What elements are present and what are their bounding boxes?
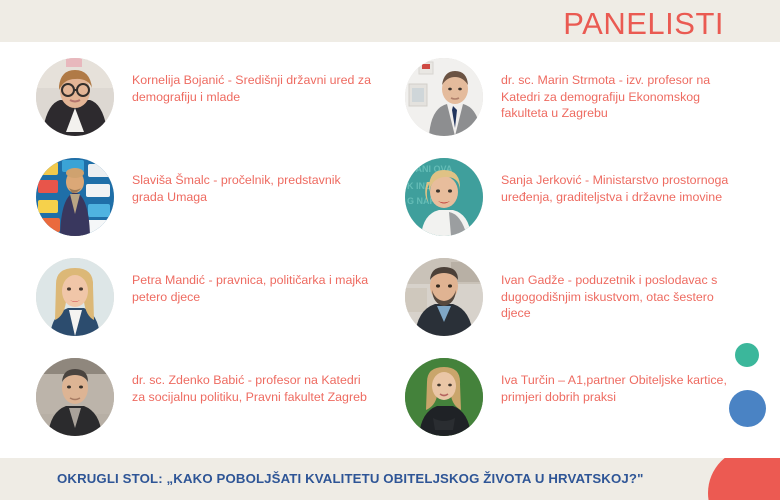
avatar-portrait-man-grey-suit: [405, 58, 483, 136]
panelist-label: Iva Turčin – A1,partner Obiteljske karti…: [501, 372, 736, 405]
panelist-marin-strmota[interactable]: dr. sc. Marin Strmota - izv. profesor na…: [405, 58, 755, 136]
avatar-portrait-young-blonde-woman: [36, 258, 114, 336]
avatar-portrait-blonde-woman-teal: DANI OVA K INZ G NAR: [405, 158, 483, 236]
panelist-kornelija-bojanic[interactable]: Kornelija Bojanić - Središnji državni ur…: [36, 58, 386, 136]
avatar-portrait-bearded-man: [405, 258, 483, 336]
avatar-portrait-man-dark-hair: [36, 358, 114, 436]
panelist-slavisa-smalc[interactable]: Slaviša Šmalc - pročelnik, predstavnik g…: [36, 158, 386, 236]
panelist-sanja-jerkovic[interactable]: DANI OVA K INZ G NAR Sanja Jerković - Mi…: [405, 158, 755, 236]
panelist-label: Petra Mandić - pravnica, političarka i m…: [132, 272, 372, 305]
panelists-grid: Kornelija Bojanić - Središnji državni ur…: [0, 42, 780, 448]
panelist-label: Slaviša Šmalc - pročelnik, predstavnik g…: [132, 172, 372, 205]
panelist-label: Sanja Jerković - Ministarstvo prostornog…: [501, 172, 736, 205]
panelist-petra-mandic[interactable]: Petra Mandić - pravnica, političarka i m…: [36, 258, 386, 336]
bottom-banner: OKRUGLI STOL: „KAKO POBOLJŠATI KVALITETU…: [0, 458, 780, 500]
slide-root: PANELISTI Kornelija Boj: [0, 0, 780, 500]
panelist-ivan-gadze[interactable]: Ivan Gadže - poduzetnik i poslodavac s d…: [405, 258, 755, 336]
panelist-label: Ivan Gadže - poduzetnik i poslodavac s d…: [501, 272, 736, 322]
avatar-portrait-woman-glasses: [36, 58, 114, 136]
panelist-zdenko-babic[interactable]: dr. sc. Zdenko Babić - profesor na Kated…: [36, 358, 386, 436]
banner-title: OKRUGLI STOL: „KAKO POBOLJŠATI KVALITETU…: [57, 458, 643, 500]
page-title: PANELISTI: [563, 6, 724, 42]
avatar-portrait-woman-green-background: [405, 358, 483, 436]
blue-circle-icon: [729, 390, 766, 427]
panelist-label: dr. sc. Zdenko Babić - profesor na Kated…: [132, 372, 372, 405]
avatar-portrait-man-standing-banner: [36, 158, 114, 236]
red-circle-icon: [708, 458, 780, 500]
panelist-label: Kornelija Bojanić - Središnji državni ur…: [132, 72, 372, 105]
panelist-iva-turcin[interactable]: Iva Turčin – A1,partner Obiteljske karti…: [405, 358, 755, 436]
teal-circle-icon: [735, 343, 759, 367]
panelist-label: dr. sc. Marin Strmota - izv. profesor na…: [501, 72, 736, 122]
